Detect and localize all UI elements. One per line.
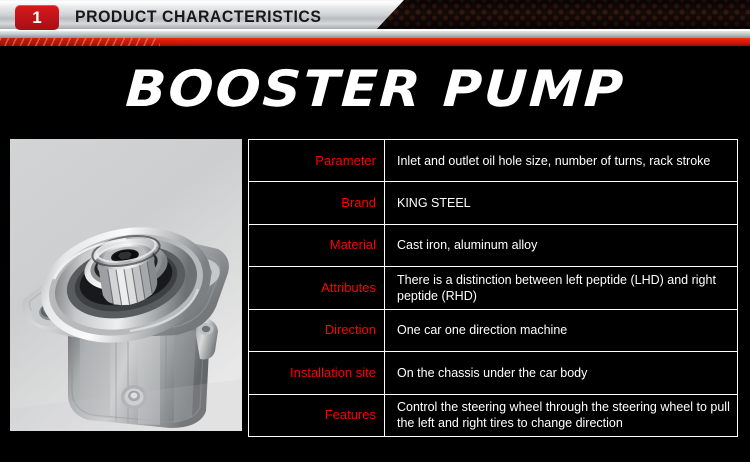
spec-label: Attributes	[249, 267, 385, 308]
spec-label: Brand	[249, 182, 385, 223]
spec-label: Direction	[249, 310, 385, 351]
table-row: Features Control the steering wheel thro…	[249, 395, 737, 436]
section-number-badge: 1	[15, 5, 59, 30]
spec-value: Control the steering wheel through the s…	[385, 395, 737, 436]
spec-value: Cast iron, aluminum alloy	[385, 225, 737, 266]
header-banner: 1 PRODUCT CHARACTERISTICS	[0, 0, 750, 46]
table-row: Parameter Inlet and outlet oil hole size…	[249, 140, 737, 182]
spec-value: One car one direction machine	[385, 310, 737, 351]
table-row: Installation site On the chassis under t…	[249, 352, 737, 394]
product-name-title: BOOSTER PUMP	[124, 64, 626, 114]
section-number-label: 1	[32, 9, 41, 26]
product-characteristics-page: 1 PRODUCT CHARACTERISTICS BOOSTER PUMP	[0, 0, 750, 462]
spec-label: Parameter	[249, 140, 385, 181]
spec-label: Material	[249, 225, 385, 266]
spec-value: KING STEEL	[385, 182, 737, 223]
spec-label: Installation site	[249, 352, 385, 393]
spec-value: On the chassis under the car body	[385, 352, 737, 393]
silver-band-highlight	[0, 29, 750, 31]
specification-table: Parameter Inlet and outlet oil hole size…	[248, 139, 738, 437]
table-row: Attributes There is a distinction betwee…	[249, 267, 737, 309]
booster-pump-illustration	[10, 139, 242, 431]
spec-value: There is a distinction between left pept…	[385, 267, 737, 308]
table-row: Brand KING STEEL	[249, 182, 737, 224]
spec-label: Features	[249, 395, 385, 436]
table-row: Direction One car one direction machine	[249, 310, 737, 352]
hero-title-area: BOOSTER PUMP	[0, 50, 750, 128]
section-title: PRODUCT CHARACTERISTICS	[75, 6, 321, 28]
table-row: Material Cast iron, aluminum alloy	[249, 225, 737, 267]
spec-value: Inlet and outlet oil hole size, number o…	[385, 140, 737, 181]
product-photo	[10, 139, 242, 431]
red-strip-diagonal-stripes	[0, 38, 160, 46]
